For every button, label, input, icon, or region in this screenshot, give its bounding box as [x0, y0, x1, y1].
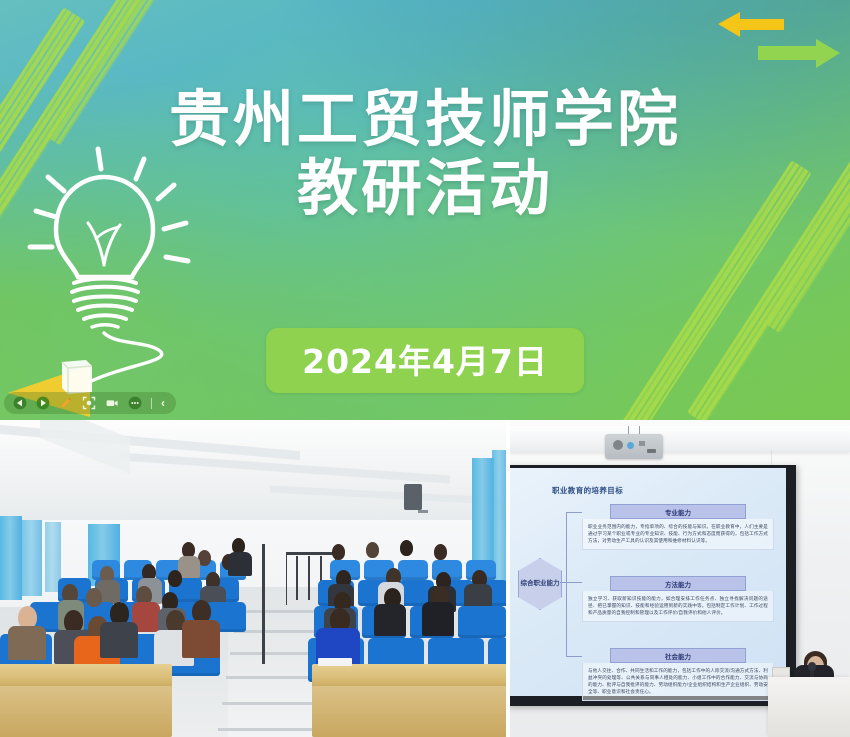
window-curtain [0, 516, 22, 600]
play-icon[interactable] [36, 396, 50, 410]
lecture-hall-scene [0, 420, 506, 737]
slide-capability-heading: 方法能力 [610, 576, 746, 591]
attendee-body [374, 604, 406, 636]
slide-connector [560, 582, 582, 583]
ceiling-soffit [510, 426, 850, 452]
attendee-head [332, 544, 345, 560]
slide-title: 职业教育的培养目标 [552, 485, 623, 496]
slide-connector [566, 512, 567, 584]
wall-speaker-icon [404, 484, 422, 510]
front-desk [0, 664, 172, 688]
projector-icon [605, 434, 663, 459]
slide-connector [566, 584, 567, 656]
title-line-1: 贵州工贸技师学院 [169, 84, 681, 155]
podium [768, 677, 850, 737]
attendee-body [100, 622, 138, 658]
projection-screen: 职业教育的培养目标 综合职业能力 专业能力 职业业务范围内的能力，专指单项的、综… [510, 468, 786, 696]
attendee-body [8, 626, 46, 660]
date-badge: 2024年4月7日 [266, 328, 584, 393]
more-icon[interactable] [128, 396, 142, 410]
front-desk [312, 664, 506, 688]
title-line-2: 教研活动 [0, 155, 850, 224]
photo-row: 职业教育的培养目标 综合职业能力 专业能力 职业业务范围内的能力，专指单项的、综… [0, 420, 850, 737]
arrow-right-icon [758, 39, 840, 68]
presentation-photo: 职业教育的培养目标 综合职业能力 专业能力 职业业务范围内的能力，专指单项的、综… [510, 420, 850, 737]
window-curtain [22, 520, 42, 596]
railing-bar [262, 544, 265, 664]
slide-capability-heading: 专业能力 [610, 504, 746, 519]
attendee-body [422, 602, 454, 636]
aisle-step [234, 630, 326, 633]
chevron-left-icon[interactable]: ‹ [161, 397, 167, 409]
poster-page: 贵州工贸技师学院 教研活动 2024年4月7日 [0, 0, 850, 737]
attendee-head [434, 544, 447, 560]
attendee-head [168, 570, 182, 587]
slide-hexagon-label: 综合职业能力 [518, 558, 562, 610]
auditorium-seat [458, 606, 506, 638]
arrow-left-icon [718, 12, 784, 37]
slide-capability-block: 方法能力 独立学习、获取新知识技能的能力，如合理安排工作任务点、独立寻找解决问题… [582, 576, 774, 622]
pencil-icon[interactable] [59, 396, 73, 410]
attendee-body [182, 620, 220, 658]
media-toolbar[interactable]: ‹ [4, 392, 176, 414]
front-desk [312, 686, 506, 737]
attendee-head [366, 542, 379, 558]
slide-connector [566, 656, 582, 657]
aisle-step [238, 610, 320, 613]
slide-capability-block: 社会能力 与他人交往、合作、共同生活和工作的能力，包括工作中的人际交流/沟通方式… [582, 648, 774, 701]
slide-capability-block: 专业能力 职业业务范围内的能力，专指单项的、综合的技能与知识。在职业教育中，人们… [582, 504, 774, 550]
video-camera-icon[interactable] [105, 396, 119, 410]
slide-connector [566, 512, 582, 513]
railing-bar [308, 556, 310, 600]
attendee-head [86, 588, 102, 607]
notebook [318, 658, 352, 666]
slide-capability-body: 与他人交往、合作、共同生活和工作的能力，包括工作中的人际交流/沟通方式方法、利益… [582, 663, 774, 701]
front-desk [0, 686, 172, 737]
focus-icon[interactable] [82, 396, 96, 410]
arrow-pair-decoration [716, 8, 842, 78]
attendee-body [228, 552, 252, 576]
microphone-head [808, 662, 816, 671]
slide-capability-body: 独立学习、获取新知识技能的能力，如合理安排工作任务点、独立寻找解决问题的途径、把… [582, 591, 774, 622]
slide-capability-body: 职业业务范围内的能力，专指单项的、综合的技能与知识。在职业教育中，人们主要是通过… [582, 519, 774, 550]
classroom-scene: 职业教育的培养目标 综合职业能力 专业能力 职业业务范围内的能力，专指单项的、综… [510, 420, 850, 737]
previous-icon[interactable] [13, 396, 27, 410]
banner-header: 贵州工贸技师学院 教研活动 2024年4月7日 [0, 0, 850, 420]
lecture-hall-photo [0, 420, 506, 737]
attendee-head [400, 540, 413, 556]
railing-bar [296, 556, 298, 600]
auditorium-seat [398, 560, 428, 580]
page-title: 贵州工贸技师学院 教研活动 [0, 86, 850, 224]
speaker-bracket [418, 510, 428, 513]
toolbar-divider [151, 398, 152, 409]
slide-capability-heading: 社会能力 [610, 648, 746, 663]
